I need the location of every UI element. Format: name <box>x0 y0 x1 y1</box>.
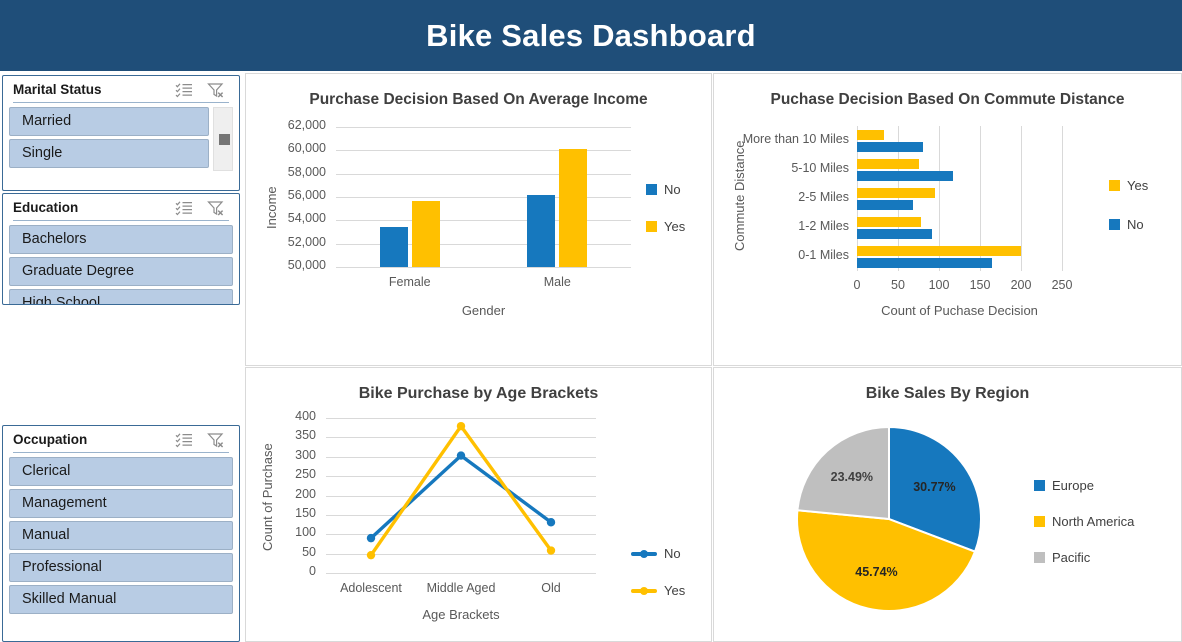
multi-select-icon[interactable] <box>175 200 193 216</box>
y-tick-label: 250 <box>246 467 316 481</box>
x-tick-label: 250 <box>1037 278 1087 292</box>
bar-no <box>857 229 932 239</box>
bar-no <box>527 195 555 267</box>
y-tick-label: 350 <box>246 428 316 442</box>
line-no <box>371 456 551 539</box>
legend-label: No <box>664 182 681 197</box>
chart-legend: NoYes <box>646 182 685 234</box>
gridline <box>1062 126 1063 271</box>
slicer-title: Education <box>13 200 175 215</box>
gridline <box>336 267 631 268</box>
pie-data-label: 23.49% <box>812 470 892 484</box>
multi-select-icon[interactable] <box>175 82 193 98</box>
clear-filter-icon[interactable] <box>207 200 225 216</box>
bar-yes <box>857 159 919 169</box>
legend-label: Yes <box>664 219 685 234</box>
bar-no <box>380 227 408 267</box>
slicer-education: Education <box>2 193 240 305</box>
pie-data-label: 45.74% <box>836 565 916 579</box>
slicer-item[interactable]: Manual <box>9 521 233 550</box>
y-tick-label: 54,000 <box>246 211 326 225</box>
data-point <box>457 422 465 430</box>
legend-swatch <box>1109 219 1120 230</box>
legend-item: No <box>1109 217 1148 232</box>
legend-label: No <box>1127 217 1144 232</box>
legend-swatch <box>646 221 657 232</box>
chart-legend: NoYes <box>631 546 685 598</box>
multi-select-icon[interactable] <box>175 432 193 448</box>
legend-line-marker <box>631 589 657 593</box>
y-axis-title: Count of Purchase <box>260 443 275 551</box>
legend-label: North America <box>1052 514 1134 529</box>
legend-swatch <box>1034 516 1045 527</box>
slicer-marital-status: Marital Status <box>2 75 240 191</box>
gridline <box>326 437 596 438</box>
bar-yes <box>857 130 884 140</box>
legend-label: No <box>664 546 681 561</box>
x-tick-label: Male <box>507 275 607 289</box>
slicer-item[interactable]: Married <box>9 107 209 136</box>
slicer-scrollbar[interactable] <box>213 107 233 171</box>
legend-swatch <box>646 184 657 195</box>
y-tick-label: 50 <box>246 545 316 559</box>
bar-yes <box>857 246 1021 256</box>
slicer-title: Marital Status <box>13 82 175 97</box>
bar-yes <box>857 188 935 198</box>
data-point <box>547 518 555 526</box>
slicer-item[interactable]: Management <box>9 489 233 518</box>
legend-item: North America <box>1034 514 1134 529</box>
slicer-item[interactable]: Professional <box>9 553 233 582</box>
x-axis-title: Count of Puchase Decision <box>777 303 1142 318</box>
chart-title: Puchase Decision Based On Commute Distan… <box>714 74 1181 112</box>
slicer-header: Education <box>3 194 239 221</box>
y-tick-label: 0 <box>246 564 316 578</box>
legend-label: Yes <box>1127 178 1148 193</box>
legend-label: Pacific <box>1052 550 1090 565</box>
x-axis-title: Gender <box>336 303 631 318</box>
y-axis-title: Commute Distance <box>732 140 747 251</box>
legend-swatch <box>1034 480 1045 491</box>
y-tick-label: 52,000 <box>246 235 326 249</box>
legend-item: Yes <box>631 583 685 598</box>
y-axis-title: Income <box>264 186 279 229</box>
legend-line-marker <box>631 552 657 556</box>
y-tick-label: 100 <box>246 525 316 539</box>
chart-title: Purchase Decision Based On Average Incom… <box>246 74 711 112</box>
bar-no <box>857 258 992 268</box>
page-title: Bike Sales Dashboard <box>426 18 756 54</box>
slicer-occupation: Occupation <box>2 425 240 642</box>
gridline <box>326 418 596 419</box>
bar-no <box>857 171 953 181</box>
gridline <box>326 573 596 574</box>
y-tick-label: 200 <box>246 487 316 501</box>
x-tick-label: Old <box>496 581 606 595</box>
legend-item: Pacific <box>1034 550 1134 565</box>
slicer-header: Occupation <box>3 426 239 453</box>
y-tick-label: 400 <box>246 409 316 423</box>
x-tick-label: Female <box>360 275 460 289</box>
chart-title: Bike Purchase by Age Brackets <box>246 368 711 406</box>
chart-panel-income: Purchase Decision Based On Average Incom… <box>245 73 712 366</box>
chart-legend: EuropeNorth AmericaPacific <box>1034 478 1134 565</box>
slicer-header: Marital Status <box>3 76 239 103</box>
gridline <box>1021 126 1022 271</box>
slicer-sidebar: Marital Status <box>0 73 243 642</box>
slicer-item[interactable]: Graduate Degree <box>9 257 233 286</box>
pie-data-label: 30.77% <box>894 480 974 494</box>
clear-filter-icon[interactable] <box>207 432 225 448</box>
legend-item: Yes <box>1109 178 1148 193</box>
slicer-body: Bachelors Graduate Degree High School Pa… <box>3 221 239 305</box>
clear-filter-icon[interactable] <box>207 82 225 98</box>
line-yes <box>371 426 551 555</box>
gridline <box>326 457 596 458</box>
chart-legend: YesNo <box>1109 178 1148 232</box>
dashboard-root: Bike Sales Dashboard Marital Status <box>0 0 1182 642</box>
chart-panel-commute: Puchase Decision Based On Commute Distan… <box>713 73 1182 366</box>
bar-no <box>857 200 913 210</box>
chart-panel-region: Bike Sales By Region 30.77%45.74%23.49%E… <box>713 367 1182 642</box>
bar-yes <box>857 217 921 227</box>
gridline <box>326 554 596 555</box>
legend-item: No <box>646 182 685 197</box>
legend-item: Europe <box>1034 478 1134 493</box>
y-tick-label: 56,000 <box>246 188 326 202</box>
data-point <box>367 551 375 559</box>
bar-no <box>857 142 923 152</box>
legend-label: Yes <box>664 583 685 598</box>
gridline <box>336 127 631 128</box>
slicer-scrollbar-thumb[interactable] <box>219 134 230 145</box>
chart-panel-age: Bike Purchase by Age Brackets 0501001502… <box>245 367 712 642</box>
plot-area: 050100150200250300350400AdolescentMiddle… <box>246 406 711 636</box>
gridline <box>326 496 596 497</box>
chart-title: Bike Sales By Region <box>714 368 1181 406</box>
slicer-item[interactable]: Skilled Manual <box>9 585 233 614</box>
legend-swatch <box>1109 180 1120 191</box>
data-point <box>457 451 465 459</box>
bar-yes <box>412 201 440 268</box>
gridline <box>326 476 596 477</box>
slicer-item[interactable]: Single <box>9 139 209 168</box>
x-axis-title: Age Brackets <box>326 607 596 622</box>
gridline <box>326 534 596 535</box>
y-tick-label: 150 <box>246 506 316 520</box>
slicer-body: Married Single <box>3 103 239 172</box>
gridline <box>326 515 596 516</box>
y-tick-label: 62,000 <box>246 118 326 132</box>
y-tick-label: 58,000 <box>246 165 326 179</box>
legend-label: Europe <box>1052 478 1094 493</box>
slicer-item[interactable]: Clerical <box>9 457 233 486</box>
legend-item: Yes <box>646 219 685 234</box>
slicer-item[interactable]: Bachelors <box>9 225 233 254</box>
y-tick-label: 60,000 <box>246 141 326 155</box>
y-tick-label: 50,000 <box>246 258 326 272</box>
plot-area: 0501001502002500-1 Miles1-2 Miles2-5 Mil… <box>714 112 1181 352</box>
bar-yes <box>559 149 587 267</box>
slicer-body: Clerical Management Manual Professional … <box>3 453 239 618</box>
plot-area: 50,00052,00054,00056,00058,00060,00062,0… <box>246 112 711 352</box>
legend-item: No <box>631 546 685 561</box>
plot-area: 30.77%45.74%23.49%EuropeNorth AmericaPac… <box>714 406 1181 636</box>
legend-swatch <box>1034 552 1045 563</box>
dashboard-header: Bike Sales Dashboard <box>0 0 1182 71</box>
slicer-item[interactable]: High School <box>9 289 233 305</box>
y-tick-label: 300 <box>246 448 316 462</box>
slicer-title: Occupation <box>13 432 175 447</box>
